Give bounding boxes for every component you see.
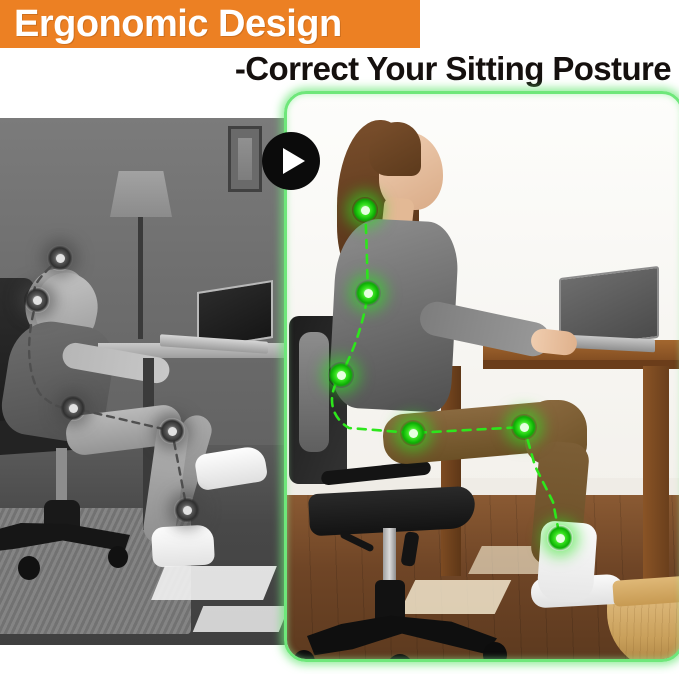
sunlight-patch (151, 566, 277, 600)
chair-caster (108, 546, 128, 568)
lamp-pole (138, 217, 143, 339)
page-title: Ergonomic Design (14, 5, 342, 43)
page-subtitle: -Correct Your Sitting Posture (0, 50, 679, 88)
after-posture-panel: Correct sitting posture (284, 91, 679, 662)
title-banner: Ergonomic Design (0, 0, 420, 48)
before-posture-panel: Incorrect sitting posture (0, 118, 296, 645)
after-panel-glow-border (284, 91, 679, 662)
play-arrow-icon[interactable] (262, 132, 320, 190)
play-arrow-triangle (283, 148, 305, 174)
before-scene (0, 118, 296, 645)
person-sock (151, 524, 215, 567)
sunlight-patch (193, 606, 290, 632)
office-chair-post (56, 448, 67, 506)
lamp-shade (110, 171, 172, 217)
chair-caster (18, 556, 40, 580)
infographic-root: Ergonomic Design -Correct Your Sitting P… (0, 0, 679, 674)
picture-frame (228, 126, 262, 192)
